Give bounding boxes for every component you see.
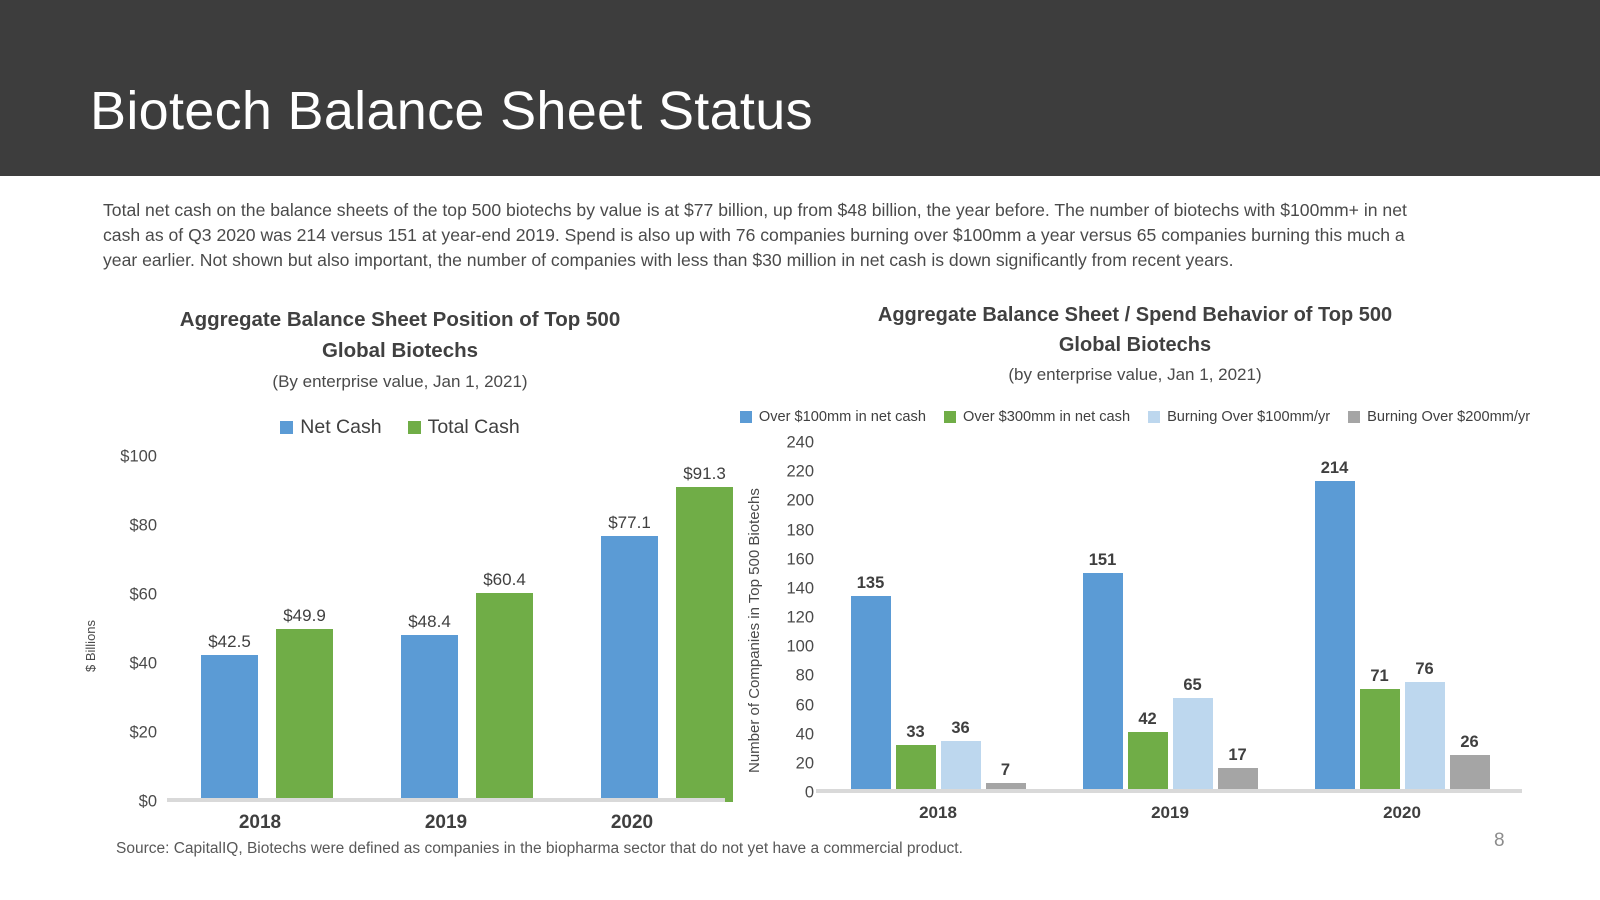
bar-burning-100mm-2019[interactable]: 65 — [1173, 698, 1213, 793]
legend-label: Total Cash — [428, 416, 520, 439]
chart-left-subtitle: (By enterprise value, Jan 1, 2021) — [75, 372, 725, 392]
bar-net-cash-2019[interactable]: $48.4 — [401, 635, 458, 802]
bar-value-label: $49.9 — [283, 606, 326, 626]
bar-over-100mm-2018[interactable]: 135 — [851, 596, 891, 793]
y-tick-label: 40 — [796, 725, 814, 744]
y-tick-label: $100 — [120, 447, 157, 466]
bar-net-cash-2020[interactable]: $77.1 — [601, 536, 658, 802]
x-tick-label-2018: 2018 — [822, 803, 1054, 823]
bar-group-2019: 151 42 65 17 — [1054, 443, 1286, 793]
bar-total-cash-2019[interactable]: $60.4 — [476, 593, 533, 801]
chart-left-x-axis-line — [167, 798, 725, 802]
bar-value-label: 71 — [1370, 667, 1388, 686]
source-note: Source: CapitalIQ, Biotechs were defined… — [116, 840, 963, 858]
bar-value-label: 42 — [1138, 710, 1156, 729]
chart-left-plot-area: $ Billions $100 $80 $60 $40 $20 $0 $42.5… — [75, 457, 725, 802]
legend-label: Over $300mm in net cash — [963, 409, 1130, 425]
legend-item-burning-over-100mm-yr[interactable]: Burning Over $100mm/yr — [1148, 409, 1330, 425]
chart-aggregate-balance-sheet-spend-behavior: Aggregate Balance Sheet / Spend Behavior… — [740, 300, 1530, 830]
bar-burning-100mm-2020[interactable]: 76 — [1405, 682, 1445, 793]
chart-right-x-axis-line — [816, 789, 1522, 793]
chart-left-y-axis-ticks: $100 $80 $60 $40 $20 $0 — [95, 457, 157, 802]
y-tick-label: $20 — [129, 723, 157, 742]
y-tick-label: 180 — [786, 521, 814, 540]
bar-group-2018: $42.5 $49.9 — [167, 457, 367, 802]
chart-right-y-axis-title: Number of Companies in Top 500 Biotechs — [746, 488, 763, 773]
chart-right-x-axis-labels: 2018 2019 2020 — [822, 803, 1518, 823]
bar-group-2019: $48.4 $60.4 — [367, 457, 567, 802]
legend-label: Net Cash — [300, 416, 381, 439]
legend-swatch-icon — [280, 421, 293, 434]
chart-right-subtitle: (by enterprise value, Jan 1, 2021) — [740, 365, 1530, 385]
bar-value-label: 135 — [857, 574, 885, 593]
body-paragraph: Total net cash on the balance sheets of … — [103, 198, 1413, 273]
bar-over-300mm-2020[interactable]: 71 — [1360, 689, 1400, 793]
x-tick-label-2019: 2019 — [353, 812, 539, 834]
x-tick-label-2020: 2020 — [1286, 803, 1518, 823]
legend-item-total-cash[interactable]: Total Cash — [408, 416, 520, 439]
y-tick-label: 80 — [796, 667, 814, 686]
y-tick-label: $80 — [129, 516, 157, 535]
bar-burning-200mm-2020[interactable]: 26 — [1450, 755, 1490, 793]
bar-over-300mm-2018[interactable]: 33 — [896, 745, 936, 793]
bar-value-label: 151 — [1089, 551, 1117, 570]
bar-value-label: 7 — [1001, 761, 1010, 780]
bar-value-label: 65 — [1183, 676, 1201, 695]
y-tick-label: 160 — [786, 550, 814, 569]
chart-left-x-axis-labels: 2018 2019 2020 — [167, 812, 725, 834]
y-tick-label: $0 — [139, 792, 157, 811]
x-tick-label-2019: 2019 — [1054, 803, 1286, 823]
legend-item-net-cash[interactable]: Net Cash — [280, 416, 381, 439]
chart-left-title-line2: Global Biotechs — [75, 336, 725, 367]
bar-value-label: 17 — [1228, 746, 1246, 765]
legend-swatch-icon — [944, 411, 956, 423]
bar-total-cash-2018[interactable]: $49.9 — [276, 629, 333, 801]
y-tick-label: 240 — [786, 434, 814, 453]
bar-net-cash-2018[interactable]: $42.5 — [201, 655, 258, 802]
legend-label: Burning Over $200mm/yr — [1367, 409, 1530, 425]
legend-swatch-icon — [408, 421, 421, 434]
chart-right-title: Aggregate Balance Sheet / Spend Behavior… — [740, 300, 1530, 360]
bar-total-cash-2020[interactable]: $91.3 — [676, 487, 733, 802]
bar-group-2020: 214 71 76 26 — [1286, 443, 1518, 793]
bar-group-2018: 135 33 36 7 — [822, 443, 1054, 793]
y-tick-label: 200 — [786, 492, 814, 511]
y-tick-label: 100 — [786, 638, 814, 657]
bar-value-label: $60.4 — [483, 570, 526, 590]
bar-value-label: 33 — [906, 723, 924, 742]
legend-swatch-icon — [1148, 411, 1160, 423]
bar-value-label: 36 — [951, 719, 969, 738]
chart-left-title-line1: Aggregate Balance Sheet Position of Top … — [75, 305, 725, 336]
bar-value-label: 214 — [1321, 459, 1349, 478]
chart-right-y-axis-ticks: 240 220 200 180 160 140 120 100 80 60 40… — [762, 443, 814, 793]
bar-value-label: $48.4 — [408, 612, 451, 632]
chart-right-bars: 135 33 36 7 151 42 — [822, 443, 1518, 793]
y-tick-label: 0 — [805, 784, 814, 803]
bar-value-label: $91.3 — [683, 464, 726, 484]
y-tick-label: 140 — [786, 579, 814, 598]
legend-item-over-300mm-net-cash[interactable]: Over $300mm in net cash — [944, 409, 1130, 425]
legend-item-burning-over-200mm-yr[interactable]: Burning Over $200mm/yr — [1348, 409, 1530, 425]
x-tick-label-2020: 2020 — [539, 812, 725, 834]
y-tick-label: $60 — [129, 585, 157, 604]
slide-header-banner: Biotech Balance Sheet Status — [0, 0, 1600, 176]
legend-label: Over $100mm in net cash — [759, 409, 926, 425]
bar-value-label: $77.1 — [608, 513, 651, 533]
x-tick-label-2018: 2018 — [167, 812, 353, 834]
chart-aggregate-balance-sheet-position: Aggregate Balance Sheet Position of Top … — [75, 305, 725, 830]
chart-left-title: Aggregate Balance Sheet Position of Top … — [75, 305, 725, 367]
chart-right-title-line2: Global Biotechs — [740, 330, 1530, 360]
y-tick-label: 220 — [786, 463, 814, 482]
legend-swatch-icon — [1348, 411, 1360, 423]
legend-swatch-icon — [740, 411, 752, 423]
chart-right-title-line1: Aggregate Balance Sheet / Spend Behavior… — [740, 300, 1530, 330]
page-number: 8 — [1494, 830, 1505, 852]
bar-value-label: 26 — [1460, 733, 1478, 752]
y-tick-label: 120 — [786, 609, 814, 628]
legend-label: Burning Over $100mm/yr — [1167, 409, 1330, 425]
bar-group-2020: $77.1 $91.3 — [567, 457, 767, 802]
bar-over-100mm-2019[interactable]: 151 — [1083, 573, 1123, 793]
chart-left-bars: $42.5 $49.9 $48.4 $60.4 $77.1 $9 — [167, 457, 725, 802]
y-tick-label: 60 — [796, 696, 814, 715]
bar-value-label: $42.5 — [208, 632, 251, 652]
y-tick-label: 20 — [796, 754, 814, 773]
page-title: Biotech Balance Sheet Status — [90, 84, 813, 138]
bar-over-100mm-2020[interactable]: 214 — [1315, 481, 1355, 793]
bar-burning-100mm-2018[interactable]: 36 — [941, 741, 981, 794]
legend-item-over-100mm-net-cash[interactable]: Over $100mm in net cash — [740, 409, 926, 425]
chart-right-legend: Over $100mm in net cash Over $300mm in n… — [740, 409, 1530, 425]
chart-right-plot-area: Number of Companies in Top 500 Biotechs … — [740, 443, 1530, 793]
chart-left-legend: Net Cash Total Cash — [75, 416, 725, 439]
y-tick-label: $40 — [129, 654, 157, 673]
bar-over-300mm-2019[interactable]: 42 — [1128, 732, 1168, 793]
bar-value-label: 76 — [1415, 660, 1433, 679]
